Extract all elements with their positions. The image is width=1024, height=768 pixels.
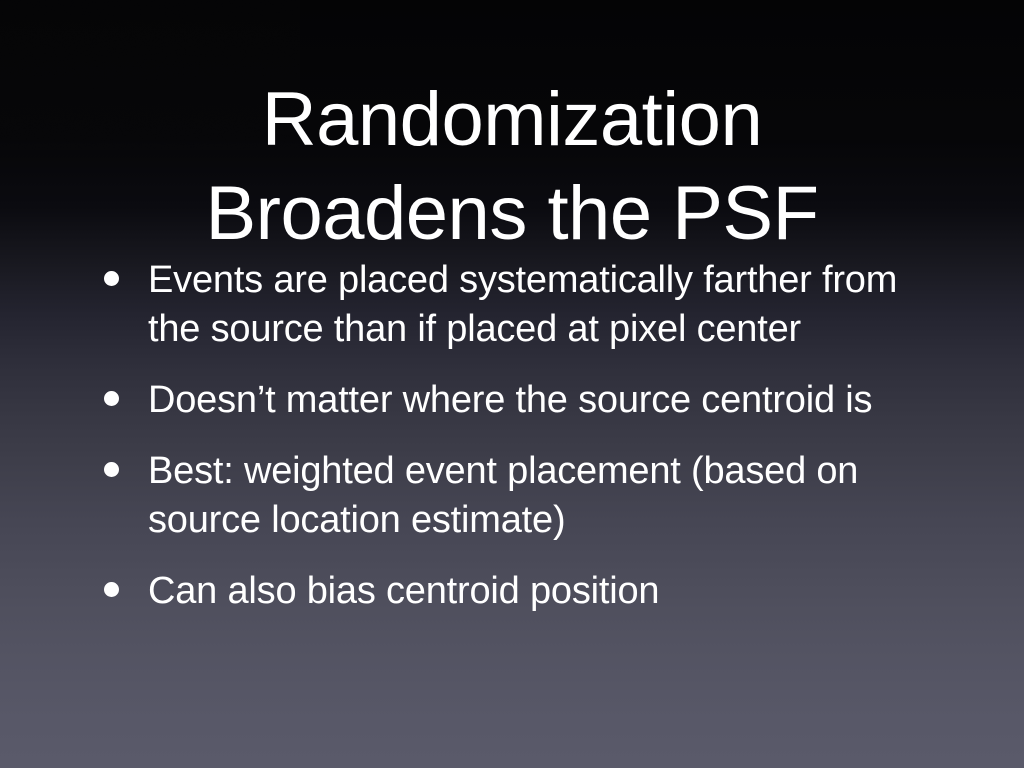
- bullet-text: Events are placed systematically farther…: [148, 256, 934, 354]
- bullet-text: Doesn’t matter where the source centroid…: [148, 376, 934, 425]
- list-item: Doesn’t matter where the source centroid…: [104, 376, 934, 425]
- list-item: Events are placed systematically farther…: [104, 256, 934, 354]
- bullet-dot-icon: [104, 271, 119, 286]
- slide-title: Randomization Broadens the PSF: [0, 73, 1024, 261]
- presentation-slide: Randomization Broadens the PSF Events ar…: [0, 0, 1024, 768]
- bullet-text: Can also bias centroid position: [148, 567, 934, 616]
- bullet-text: Best: weighted event placement (based on…: [148, 447, 934, 545]
- list-item: Can also bias centroid position: [104, 567, 934, 616]
- bullet-dot-icon: [104, 391, 119, 406]
- list-item: Best: weighted event placement (based on…: [104, 447, 934, 545]
- bullet-list: Events are placed systematically farther…: [104, 256, 934, 638]
- bullet-dot-icon: [104, 582, 119, 597]
- bullet-dot-icon: [104, 462, 119, 477]
